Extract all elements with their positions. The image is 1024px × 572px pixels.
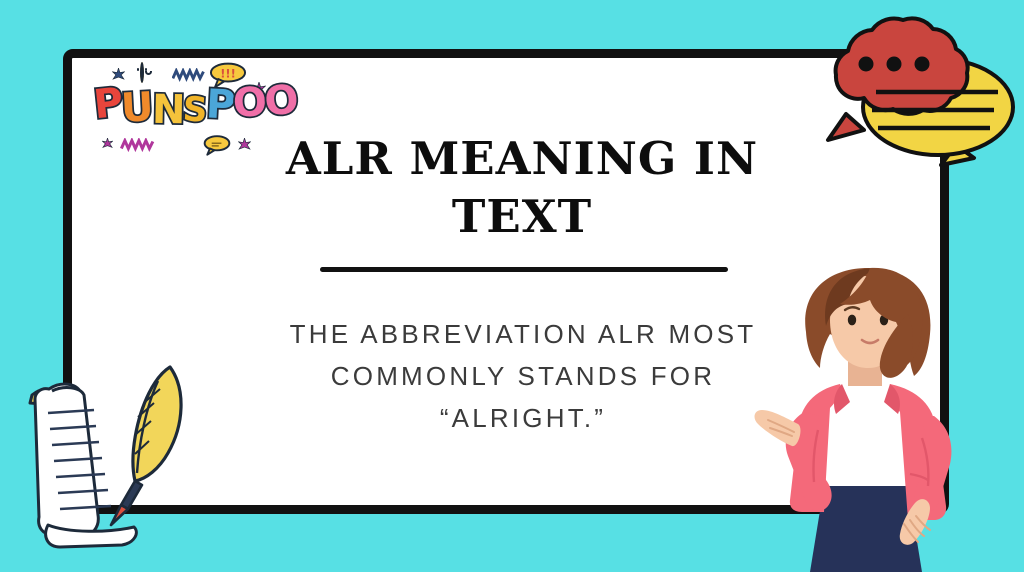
headline-line-2: TEXT (452, 190, 592, 243)
subtitle-text: THE ABBREVIATION ALR MOST COMMONLY STAND… (258, 313, 788, 439)
woman-presenter-illustration (744, 262, 994, 572)
bubble-dot (859, 57, 874, 72)
smiley-face-icon (140, 64, 144, 82)
small-bubble-icon (202, 134, 232, 161)
bubble-dot (887, 57, 902, 72)
logo-letter: U (120, 87, 153, 129)
bubble-dot (915, 57, 930, 72)
quill-nib (111, 481, 142, 525)
speech-bubbles-group (806, 12, 1024, 177)
left-hand (755, 410, 801, 446)
star-magenta-2-icon (102, 136, 113, 154)
logo-letter: P (205, 84, 234, 125)
zigzag-magenta-icon (120, 138, 156, 157)
logo-letter: N (151, 90, 183, 131)
scroll-paper (30, 384, 136, 547)
logo-letter: O (263, 80, 298, 123)
logo-letter: O (232, 82, 265, 123)
zigzag-navy-icon (172, 68, 206, 87)
svg-text:!!!: !!! (220, 66, 236, 80)
brand-wordmark: PUNSPOO (94, 86, 297, 126)
page-title: ALR MEANING IN TEXT (262, 130, 782, 245)
star-magenta-3-icon (238, 138, 251, 156)
headline-line-1: ALR MEANING IN (286, 132, 758, 185)
logo-letter: P (92, 83, 123, 126)
quill-feather (133, 367, 181, 481)
scroll-and-quill-illustration (18, 355, 218, 560)
brand-logo[interactable]: !!! PUNSPOO (86, 62, 291, 162)
poster-canvas: !!! PUNSPOO (0, 0, 1024, 572)
title-divider (320, 267, 728, 272)
logo-letter: S (182, 92, 207, 127)
